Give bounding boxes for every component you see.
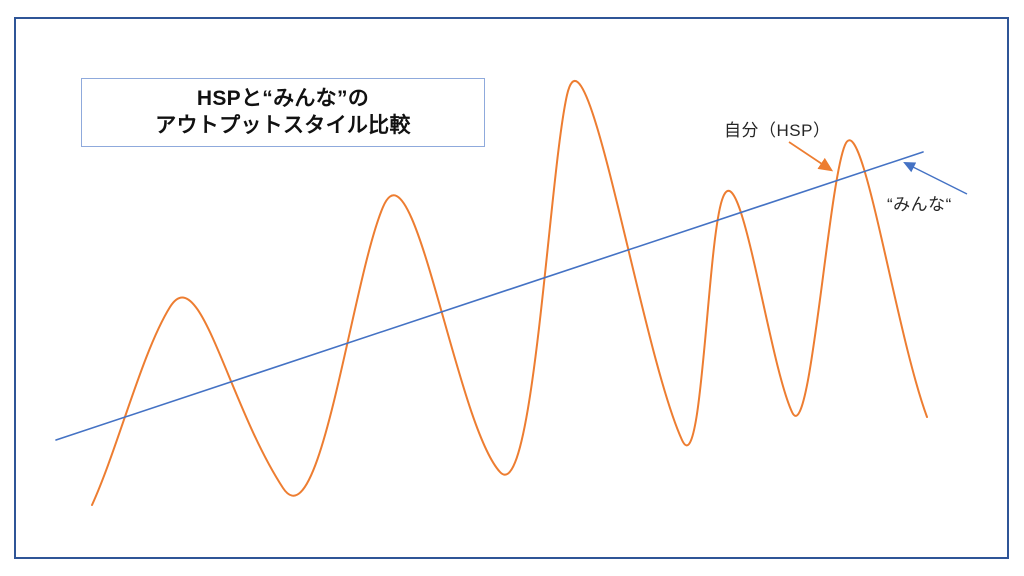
- title-line-1: HSPと“みんな”の: [197, 86, 369, 113]
- series-line-everyone: [56, 152, 923, 440]
- slide-canvas: HSPと“みんな”の アウトプットスタイル比較 自分（HSP） “みんな“: [0, 0, 1024, 576]
- annotation-label-self-hsp: 自分（HSP）: [724, 116, 830, 141]
- title-callout-box: HSPと“みんな”の アウトプットスタイル比較: [81, 78, 485, 147]
- title-line-2: アウトプットスタイル比較: [155, 113, 411, 140]
- pointer-arrow-self-hsp: [789, 142, 831, 170]
- annotation-label-everyone: “みんな“: [887, 190, 952, 215]
